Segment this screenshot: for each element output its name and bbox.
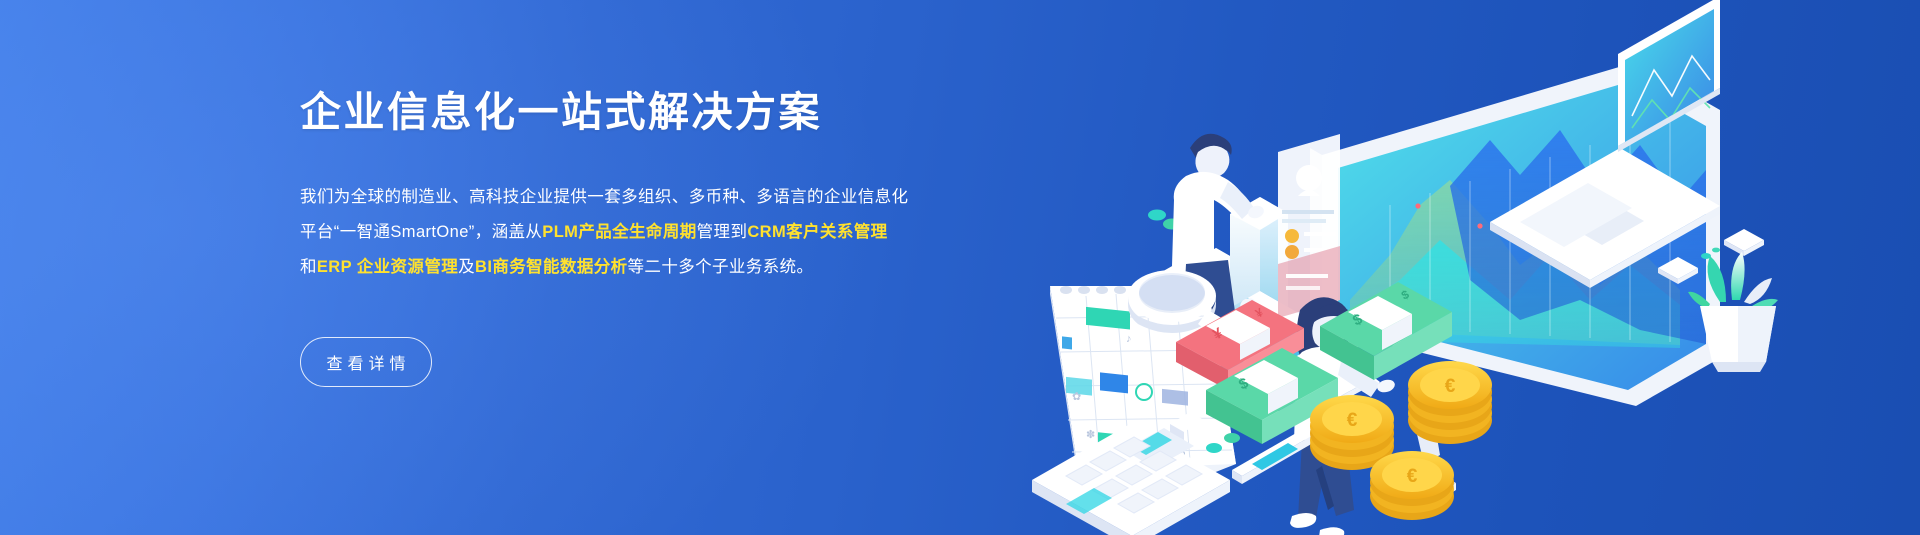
- svg-text:€: €: [1445, 376, 1456, 397]
- highlight-term-3-4: BI商务智能数据分析: [475, 258, 628, 276]
- text-segment-1-1: 我们为全球的制造业、高科技企业提供一套多组织、多币种、多语言的企业信息化: [300, 188, 908, 206]
- highlight-term-2-4: CRM客户关系管理: [747, 223, 887, 241]
- hero-banner: 企业信息化一站式解决方案 我们为全球的制造业、高科技企业提供一套多组织、多币种、…: [0, 0, 1920, 535]
- text-segment-2-1: 平台“一智通SmartOne”，涵盖从: [300, 223, 542, 241]
- text-segment-3-5: 等二十多个子业务系统。: [628, 258, 814, 276]
- svg-text:♪: ♪: [1126, 333, 1132, 345]
- highlight-term-2-2: PLM产品全生命周期: [542, 223, 696, 241]
- page-title: 企业信息化一站式解决方案: [300, 88, 960, 136]
- text-segment-2-3: 管理到: [697, 223, 748, 241]
- description-line-3: 和ERP 企业资源管理及BI商务智能数据分析等二十多个子业务系统。: [300, 250, 960, 285]
- hero-copy: 企业信息化一站式解决方案 我们为全球的制造业、高科技企业提供一套多组织、多币种、…: [300, 88, 960, 387]
- text-segment-3-3: 及: [458, 258, 475, 276]
- svg-text:€: €: [1407, 466, 1418, 487]
- highlight-term-3-2: ERP 企业资源管理: [317, 258, 458, 276]
- svg-text:€: €: [1347, 410, 1358, 431]
- hero-illustration: $ ♪ ✿ ✽: [1020, 0, 1920, 535]
- description-line-2: 平台“一智通SmartOne”，涵盖从PLM产品全生命周期管理到CRM客户关系管…: [300, 215, 960, 250]
- cta-wrapper: 查看详情: [300, 337, 960, 387]
- text-segment-3-1: 和: [300, 258, 317, 276]
- view-details-button[interactable]: 查看详情: [300, 337, 432, 387]
- description-line-1: 我们为全球的制造业、高科技企业提供一套多组织、多币种、多语言的企业信息化: [300, 180, 960, 215]
- hero-description: 我们为全球的制造业、高科技企业提供一套多组织、多币种、多语言的企业信息化平台“一…: [300, 180, 960, 285]
- svg-text:✽: ✽: [1086, 429, 1095, 441]
- profile-card-panel: [1278, 134, 1340, 322]
- svg-text:✿: ✿: [1072, 391, 1081, 403]
